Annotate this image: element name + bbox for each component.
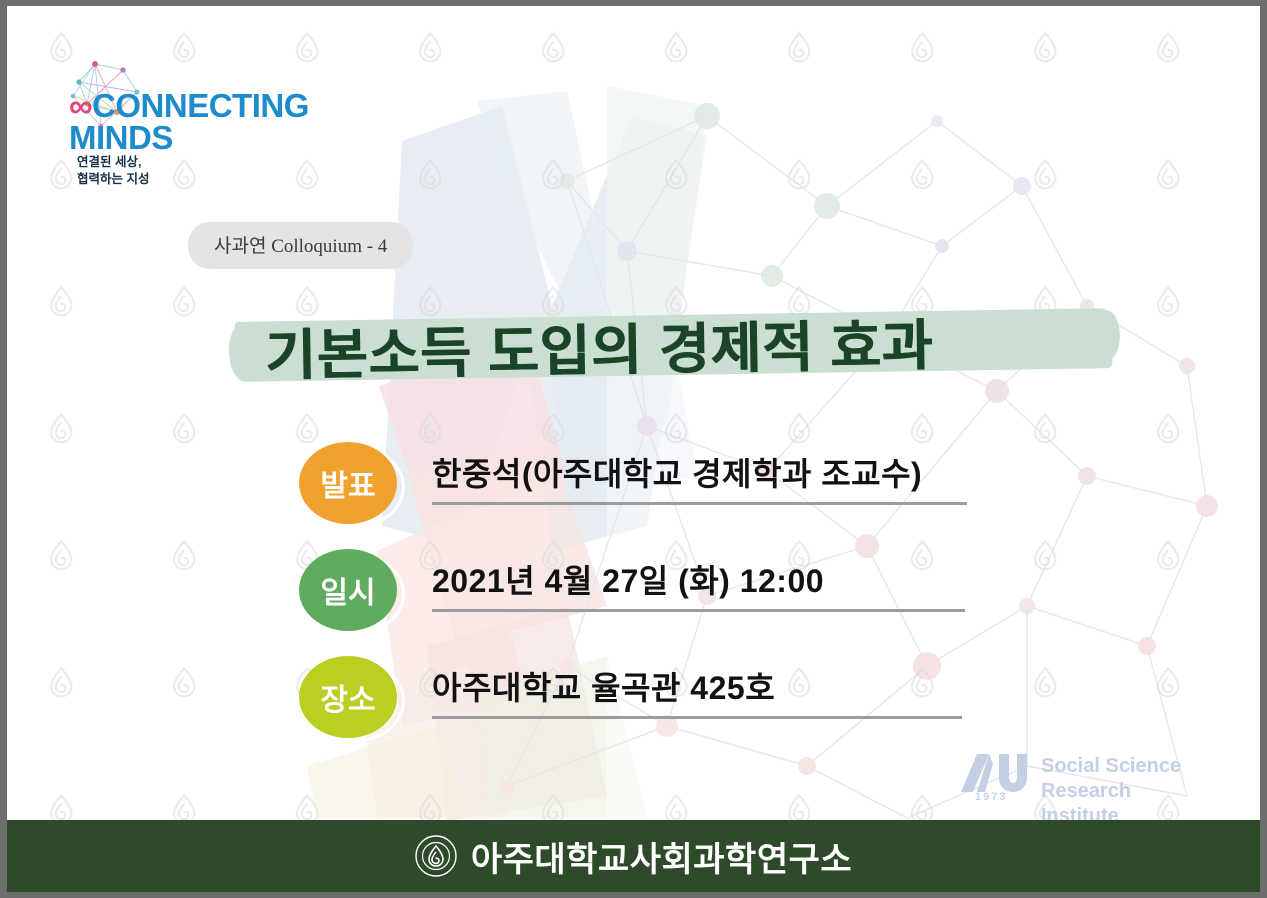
au-year: 1973 [975,791,1007,803]
logo-tagline: 연결된 세상, 협력하는 지성 [77,154,149,188]
info-datetime-wrap: 2021년 4월 27일 (화) 12:00 [432,561,992,612]
badge-datetime: 일시 [299,549,407,637]
poster-frame: ∞CONNECTING MINDS 연결된 세상, 협력하는 지성 사과연 Co… [0,0,1267,898]
poster-content: ∞CONNECTING MINDS 연결된 세상, 협력하는 지성 사과연 Co… [7,6,1260,892]
info-datetime-value: 2021년 4월 27일 (화) 12:00 [432,561,992,609]
footer-title: 아주대학교사회과학연구소 [471,832,852,881]
footer-bar: 아주대학교사회과학연구소 [7,820,1260,892]
info-row-venue: 장소 아주대학교 율곡관 425호 [299,656,999,748]
colloquium-badge: 사과연 Colloquium - 4 [188,222,413,269]
info-venue-underline [432,716,962,719]
badge-venue-label: 장소 [299,656,397,738]
logo-word-minds: MINDS [69,121,319,154]
badge-speaker-label: 발표 [299,442,397,524]
info-row-speaker: 발표 한중석(아주대학교 경제학과 조교수) [299,442,999,534]
au-monogram-icon [959,752,1031,794]
info-venue-wrap: 아주대학교 율곡관 425호 [432,668,992,719]
info-row-datetime: 일시 2021년 4월 27일 (화) 12:00 [299,549,999,641]
ssri-logo: 1973 Social Science Research Institute [959,749,1209,811]
info-venue-value: 아주대학교 율곡관 425호 [432,668,992,716]
logo-word-connecting: ∞CONNECTING [69,90,319,121]
badge-datetime-label: 일시 [299,549,397,631]
poster-canvas: ∞CONNECTING MINDS 연결된 세상, 협력하는 지성 사과연 Co… [7,6,1260,892]
connecting-minds-logo: ∞CONNECTING MINDS 연결된 세상, 협력하는 지성 [65,56,315,196]
page-title: 기본소득 도입의 경제적 효과 [264,297,1115,390]
title-block: 기본소득 도입의 경제적 효과 [235,298,1135,394]
info-speaker-wrap: 한중석(아주대학교 경제학과 조교수) [432,454,992,505]
badge-speaker: 발표 [299,442,407,530]
badge-venue: 장소 [299,656,407,744]
info-datetime-underline [432,609,965,612]
info-speaker-underline [432,502,967,505]
info-speaker-value: 한중석(아주대학교 경제학과 조교수) [432,454,992,502]
ajou-university-seal-icon [415,835,457,877]
logo-wordmark: ∞CONNECTING MINDS [69,90,319,154]
ssri-name: Social Science Research Institute [1041,754,1209,829]
